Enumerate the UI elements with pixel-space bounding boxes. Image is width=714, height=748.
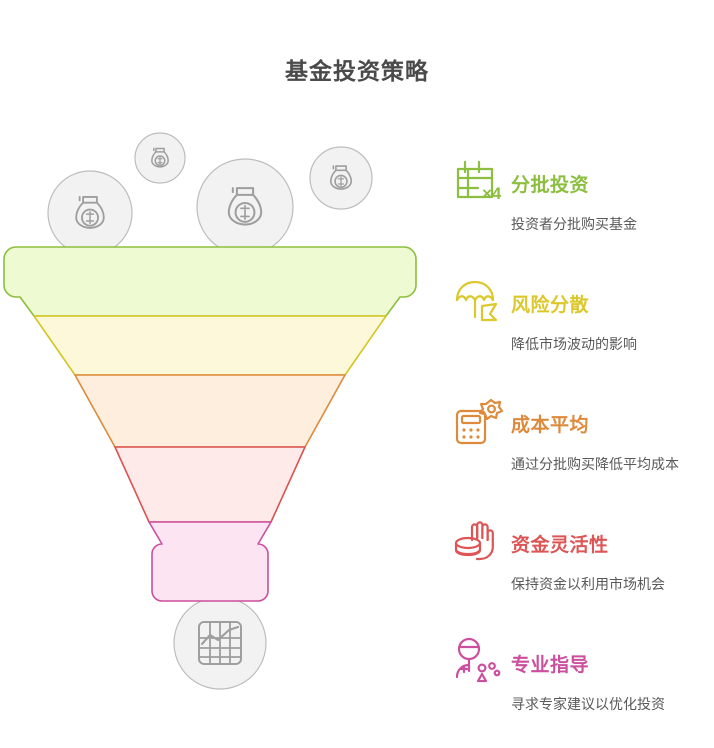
money-bag-circle-1 <box>48 171 132 255</box>
coins-hand-icon <box>452 516 506 570</box>
funnel-band-4 <box>115 447 305 522</box>
strategy-item-2[interactable]: 风险分散 降低市场波动的影响 <box>447 268 714 388</box>
strategy-title-5: 专业指导 <box>511 650 589 677</box>
strategy-item-4[interactable]: 资金灵活性 保持资金以利用市场机会 <box>447 508 714 628</box>
money-bag-circle-4 <box>310 147 372 209</box>
funnel-band-3 <box>75 375 345 447</box>
strategy-item-1[interactable]: ×4 分批投资 投资者分批购买基金 <box>447 148 714 268</box>
strategy-desc-4: 保持资金以利用市场机会 <box>511 574 665 594</box>
strategy-item-3[interactable]: 成本平均 通过分批购买降低平均成本 <box>447 388 714 508</box>
strategy-desc-1: 投资者分批购买基金 <box>511 214 637 234</box>
funnel-band-2 <box>34 316 386 375</box>
growth-chart-circle <box>174 597 266 689</box>
calculator-gear-icon <box>452 396 506 450</box>
money-bag-circle-3 <box>197 159 293 255</box>
strategy-desc-2: 降低市场波动的影响 <box>511 334 637 354</box>
strategy-title-1: 分批投资 <box>511 170 589 197</box>
strategy-title-4: 资金灵活性 <box>511 530 609 557</box>
calendar-badge: ×4 <box>482 184 502 203</box>
money-bag-circle-2 <box>135 133 185 183</box>
page-title: 基金投资策略 <box>0 52 714 86</box>
strategy-title-3: 成本平均 <box>511 410 589 437</box>
funnel-band-5 <box>149 522 271 601</box>
strategy-list: ×4 分批投资 投资者分批购买基金 风险分散 降低市场波动的影响 <box>447 148 714 748</box>
calendar-x4-icon: ×4 <box>452 156 506 210</box>
funnel-svg <box>0 110 440 735</box>
funnel-diagram <box>0 110 440 735</box>
umbrella-icon <box>452 276 506 330</box>
strategy-title-2: 风险分散 <box>511 290 589 317</box>
funnel-band-1 <box>4 247 416 316</box>
strategy-desc-5: 寻求专家建议以优化投资 <box>511 694 665 714</box>
strategy-desc-3: 通过分批购买降低平均成本 <box>511 454 679 474</box>
strategy-item-5[interactable]: 专业指导 寻求专家建议以优化投资 <box>447 628 714 748</box>
advisor-person-icon <box>452 636 506 690</box>
